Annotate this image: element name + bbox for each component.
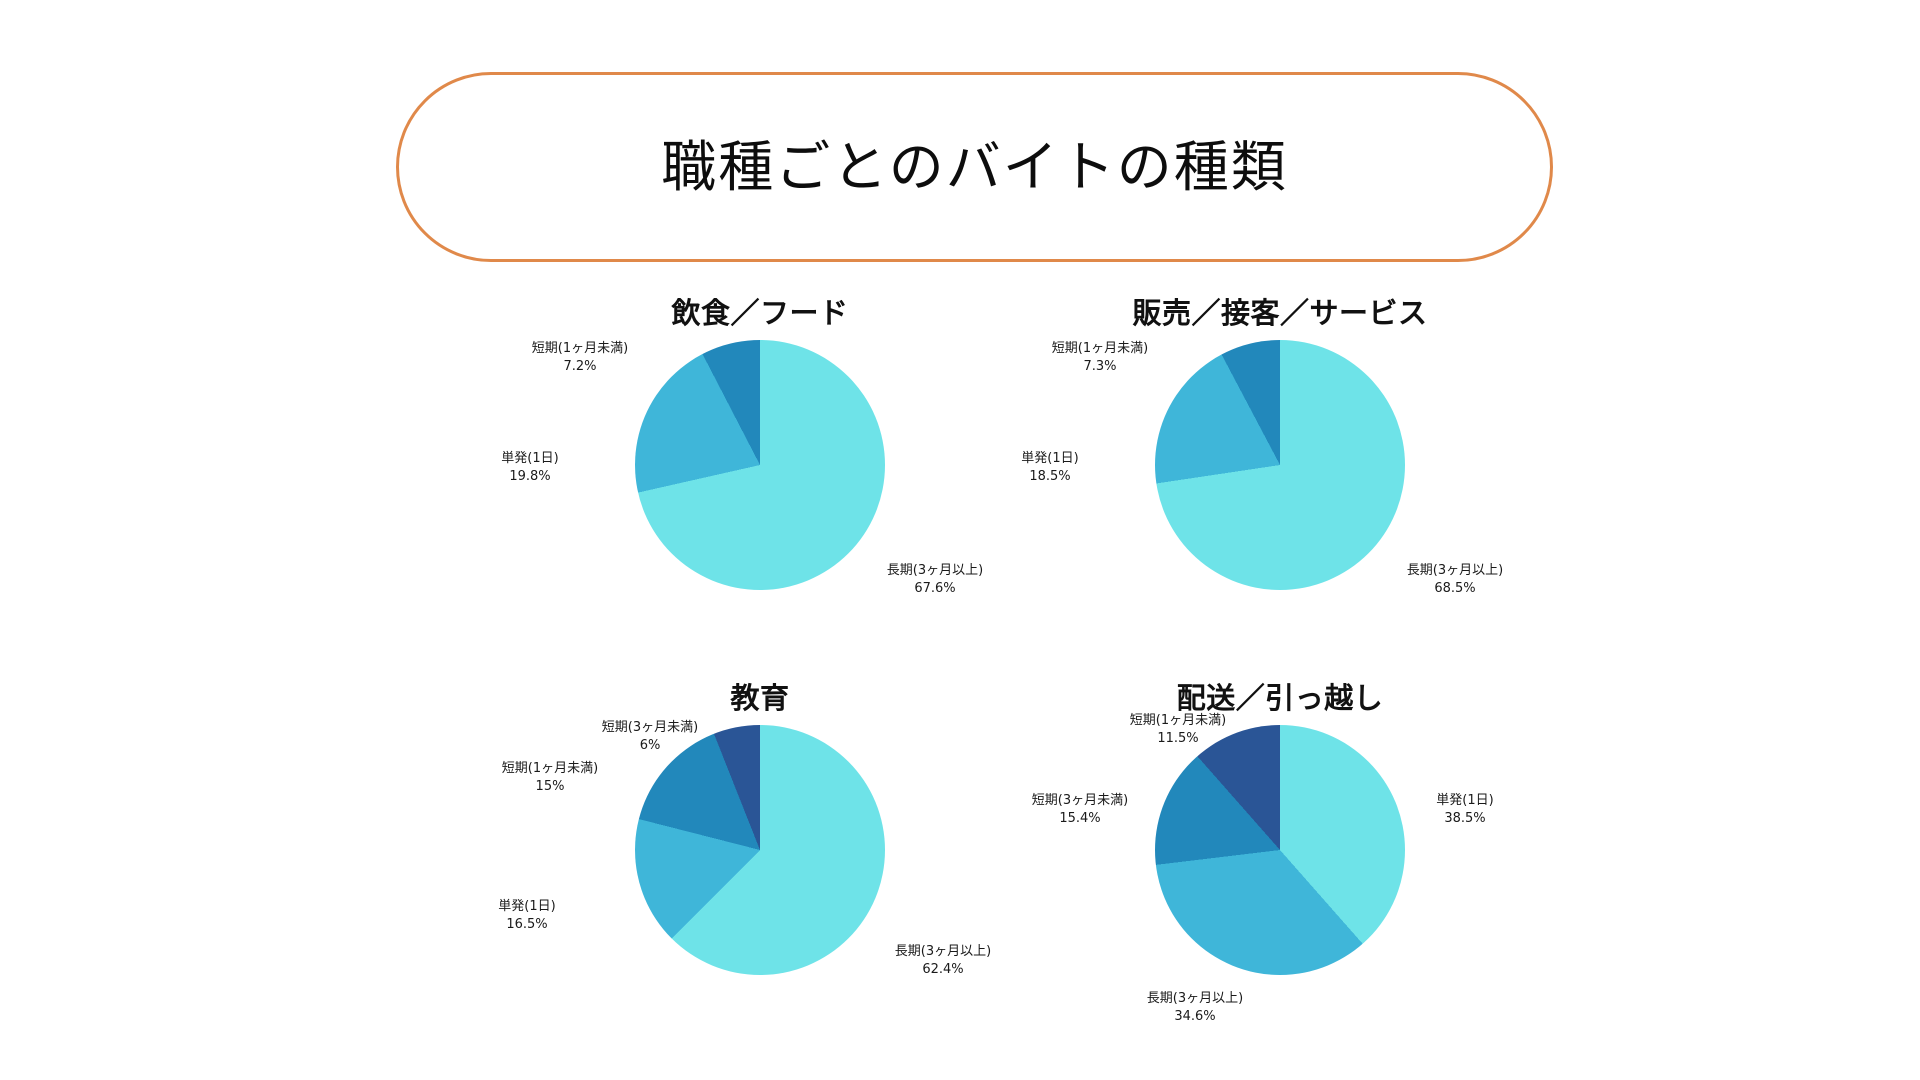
pie-label-short3m: 短期(3ヶ月未満) 6% bbox=[570, 719, 730, 754]
pie-wrap-delivery bbox=[1155, 725, 1405, 975]
slide-root: 職種ごとのバイトの種類 飲食／フード 短期(1ヶ月未満) 7.2% 単発(1日)… bbox=[0, 0, 1920, 1080]
pie-label-short1m: 短期(1ヶ月未満) 7.3% bbox=[1020, 340, 1180, 375]
pie-chart-delivery: 配送／引っ越し 短期(1ヶ月未満) 11.5% 短期(3ヶ月未満) 15.4% … bbox=[1000, 675, 1560, 1065]
pie-label-singleday: 単発(1日) 16.5% bbox=[462, 898, 592, 933]
pie-sales bbox=[1155, 340, 1405, 590]
pie-label-short1m: 短期(1ヶ月未満) 7.2% bbox=[500, 340, 660, 375]
pie-chart-education: 教育 短期(3ヶ月未満) 6% 短期(1ヶ月未満) 15% 単発(1日) 16.… bbox=[480, 675, 1040, 1065]
pie-label-singleday: 単発(1日) 38.5% bbox=[1400, 792, 1530, 827]
pie-wrap-education bbox=[635, 725, 885, 975]
pie-wrap-food bbox=[635, 340, 885, 590]
pie-label-longterm: 長期(3ヶ月以上) 67.6% bbox=[850, 562, 1020, 597]
pie-chart-food: 飲食／フード 短期(1ヶ月未満) 7.2% 単発(1日) 19.8% 長期(3ヶ… bbox=[480, 290, 1040, 680]
pie-label-singleday: 単発(1日) 19.8% bbox=[465, 450, 595, 485]
pie-education bbox=[635, 725, 885, 975]
pie-label-singleday: 単発(1日) 18.5% bbox=[985, 450, 1115, 485]
pie-wrap-sales bbox=[1155, 340, 1405, 590]
slide-title-box: 職種ごとのバイトの種類 bbox=[396, 72, 1553, 262]
pie-label-short1m: 短期(1ヶ月未満) 15% bbox=[470, 760, 630, 795]
pie-label-short3m: 短期(3ヶ月未満) 15.4% bbox=[1000, 792, 1160, 827]
chart-title-sales: 販売／接客／サービス bbox=[1000, 290, 1560, 332]
pie-label-short1m: 短期(1ヶ月未満) 11.5% bbox=[1098, 712, 1258, 747]
chart-grid: 飲食／フード 短期(1ヶ月未満) 7.2% 単発(1日) 19.8% 長期(3ヶ… bbox=[0, 280, 1920, 1080]
chart-title-food: 飲食／フード bbox=[480, 290, 1040, 332]
pie-food bbox=[635, 340, 885, 590]
pie-chart-sales: 販売／接客／サービス 短期(1ヶ月未満) 7.3% 単発(1日) 18.5% 長… bbox=[1000, 290, 1560, 680]
pie-label-longterm: 長期(3ヶ月以上) 68.5% bbox=[1370, 562, 1540, 597]
chart-title-delivery: 配送／引っ越し bbox=[1000, 675, 1560, 717]
chart-title-education: 教育 bbox=[480, 675, 1040, 717]
pie-label-longterm: 長期(3ヶ月以上) 34.6% bbox=[1110, 990, 1280, 1025]
pie-delivery bbox=[1155, 725, 1405, 975]
page-title: 職種ごとのバイトの種類 bbox=[661, 140, 1287, 195]
